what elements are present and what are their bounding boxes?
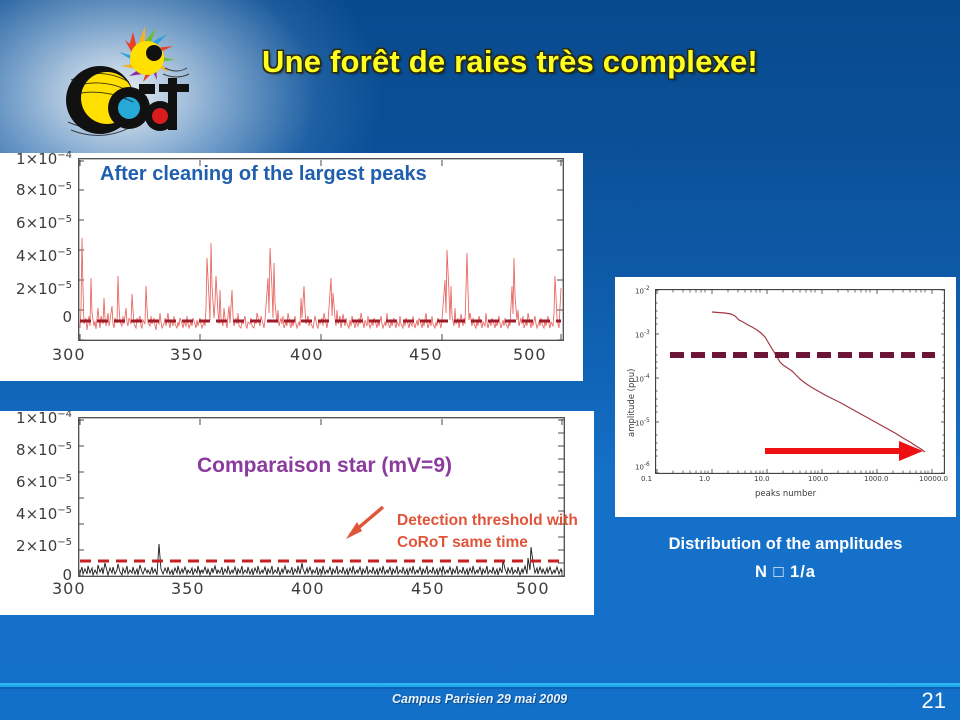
top-xtick-0: 300 [52, 345, 86, 364]
right-ytick-4: 10-2 [635, 286, 650, 295]
trend-arrow-icon [765, 441, 923, 461]
top-ytick-3: 6×10−5 [0, 214, 72, 232]
chart-panel-top: 0 2×10−5 4×10−5 6×10−5 8×10−5 1×10−4 300… [0, 153, 583, 381]
corot-logo [55, 18, 195, 140]
chart-panel-right: amplitude (ppu) 10-2 10-3 10-4 10-5 10-6… [615, 277, 956, 517]
right-ytick-3: 10-3 [635, 330, 650, 339]
page-number: 21 [922, 688, 946, 714]
top-ytick-2: 4×10−5 [0, 247, 72, 265]
bottom-ytick-4: 8×10−5 [0, 441, 72, 459]
bottom-plot-area [78, 417, 565, 577]
top-xtick-2: 400 [290, 345, 324, 364]
bottom-ytick-5: 1×10−4 [0, 409, 72, 427]
bottom-xtick-2: 400 [291, 579, 325, 598]
corot-sun-eye [146, 45, 162, 61]
bottom-xtick-4: 500 [516, 579, 550, 598]
bottom-chart-title: Comparaison star (mV=9) [197, 454, 452, 478]
right-xtick-1: 1.0 [699, 475, 710, 483]
right-xtick-4: 1000.0 [864, 475, 889, 483]
top-chart-annotation: After cleaning of the largest peaks [100, 163, 427, 186]
chart-panel-bottom: 0 2×10−5 4×10−5 6×10−5 8×10−5 1×10−4 300… [0, 411, 594, 615]
top-xtick-4: 500 [513, 345, 547, 364]
bottom-ytick-2: 4×10−5 [0, 505, 72, 523]
footer-divider-shadow [0, 687, 960, 689]
footer-text: Campus Parisien 29 mai 2009 [392, 692, 567, 706]
detection-threshold-label-line1: Detection threshold with [397, 512, 578, 530]
slide: Une forêt de raies très complexe! 0 2×10… [0, 0, 960, 720]
right-ytick-2: 10-4 [635, 374, 650, 383]
right-plot-area [655, 289, 945, 474]
right-xtick-0: 0.1 [641, 475, 652, 483]
bottom-xtick-3: 450 [411, 579, 445, 598]
bottom-xtick-1: 350 [171, 579, 205, 598]
page-title: Une forêt de raies très complexe! [200, 44, 820, 80]
top-xtick-1: 350 [170, 345, 204, 364]
right-xtick-3: 100.0 [808, 475, 828, 483]
right-ytick-1: 10-5 [635, 418, 650, 427]
right-xlabel: peaks number [755, 489, 816, 499]
right-xtick-5: 10000.0 [919, 475, 948, 483]
detection-threshold-label-line2: CoRoT same time [397, 534, 528, 552]
top-ytick-0: 0 [0, 308, 72, 326]
right-xtick-2: 10.0 [754, 475, 770, 483]
bottom-ytick-1: 2×10−5 [0, 537, 72, 555]
bottom-ytick-3: 6×10−5 [0, 473, 72, 491]
right-caption-line1: Distribution of the amplitudes [615, 535, 956, 554]
top-ytick-4: 8×10−5 [0, 181, 72, 199]
bottom-xtick-0: 300 [52, 579, 86, 598]
top-ytick-1: 2×10−5 [0, 280, 72, 298]
top-xtick-3: 450 [409, 345, 443, 364]
detection-threshold-arrow [346, 507, 383, 539]
top-ytick-5: 1×10−4 [0, 150, 72, 168]
right-caption-line2: N □ 1/a [615, 563, 956, 582]
right-ytick-0: 10-6 [635, 462, 650, 471]
corot-letter-r [139, 84, 155, 94]
